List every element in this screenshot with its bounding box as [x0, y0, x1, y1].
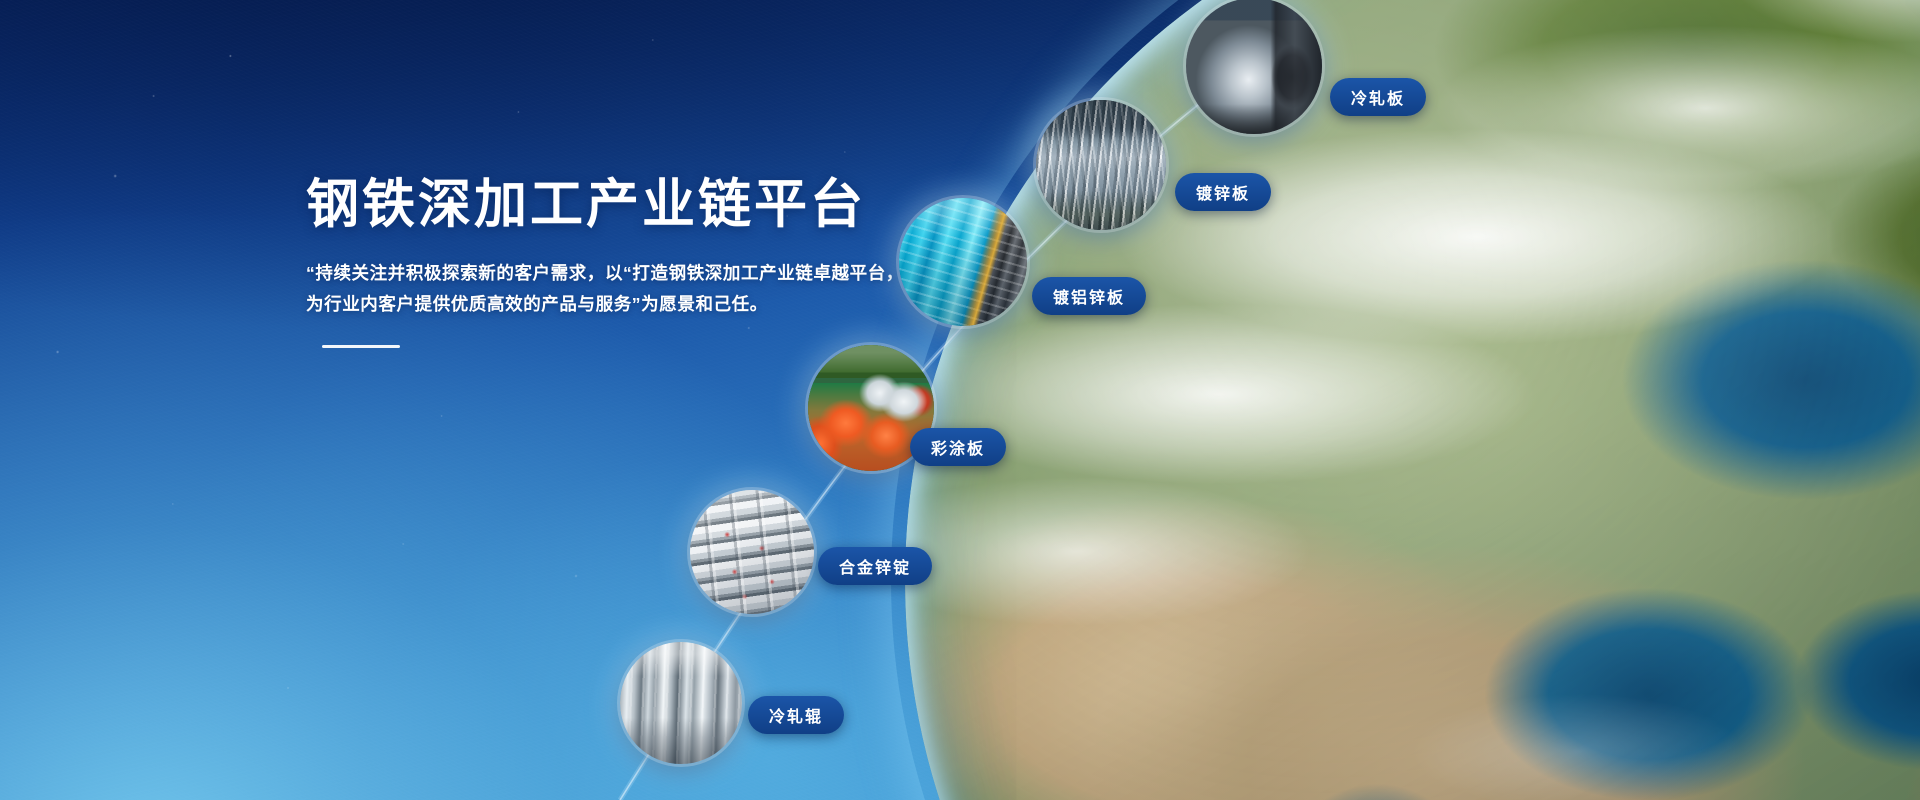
coil-warehouse-image [1036, 100, 1166, 230]
hero-banner: 钢铁深加工产业链平台 “持续关注并积极探索新的客户需求，以“打造钢铁深加工产业链… [0, 0, 1920, 800]
title-divider [322, 345, 400, 348]
product-label-cold-rolled-plate[interactable]: 冷轧板 [1330, 78, 1426, 116]
subtitle-line-1: “持续关注并积极探索新的客户需求，以“打造钢铁深加工产业链卓越平台， [306, 258, 926, 289]
zinc-ingots-photo[interactable] [690, 490, 814, 614]
coil-warehouse-photo[interactable] [1036, 100, 1166, 230]
zinc-ingots-image [690, 490, 814, 614]
product-label-galvanized-plate[interactable]: 镀锌板 [1175, 173, 1271, 211]
product-label-color-coated-plate[interactable]: 彩涂板 [910, 428, 1006, 466]
chrome-rolls-image [620, 642, 742, 764]
banner-subtitle: “持续关注并积极探索新的客户需求，以“打造钢铁深加工产业链卓越平台， 为行业内客… [306, 258, 926, 319]
aluzinc-sheets-photo[interactable] [899, 198, 1027, 326]
steel-coils-image [1186, 0, 1322, 134]
aluzinc-sheets-image [899, 198, 1027, 326]
subtitle-line-2: 为行业内客户提供优质高效的产品与服务”为愿景和己任。 [306, 289, 926, 320]
product-label-cold-rolling-roll[interactable]: 冷轧辊 [748, 696, 844, 734]
chrome-rolls-photo[interactable] [620, 642, 742, 764]
product-label-alloy-zinc-ingot[interactable]: 合金锌锭 [818, 547, 932, 585]
banner-copy: 钢铁深加工产业链平台 “持续关注并积极探索新的客户需求，以“打造钢铁深加工产业链… [306, 175, 926, 348]
steel-coils-photo[interactable] [1186, 0, 1322, 134]
page-title: 钢铁深加工产业链平台 [306, 175, 926, 236]
product-label-aluzinc-plate[interactable]: 镀铝锌板 [1032, 277, 1146, 315]
